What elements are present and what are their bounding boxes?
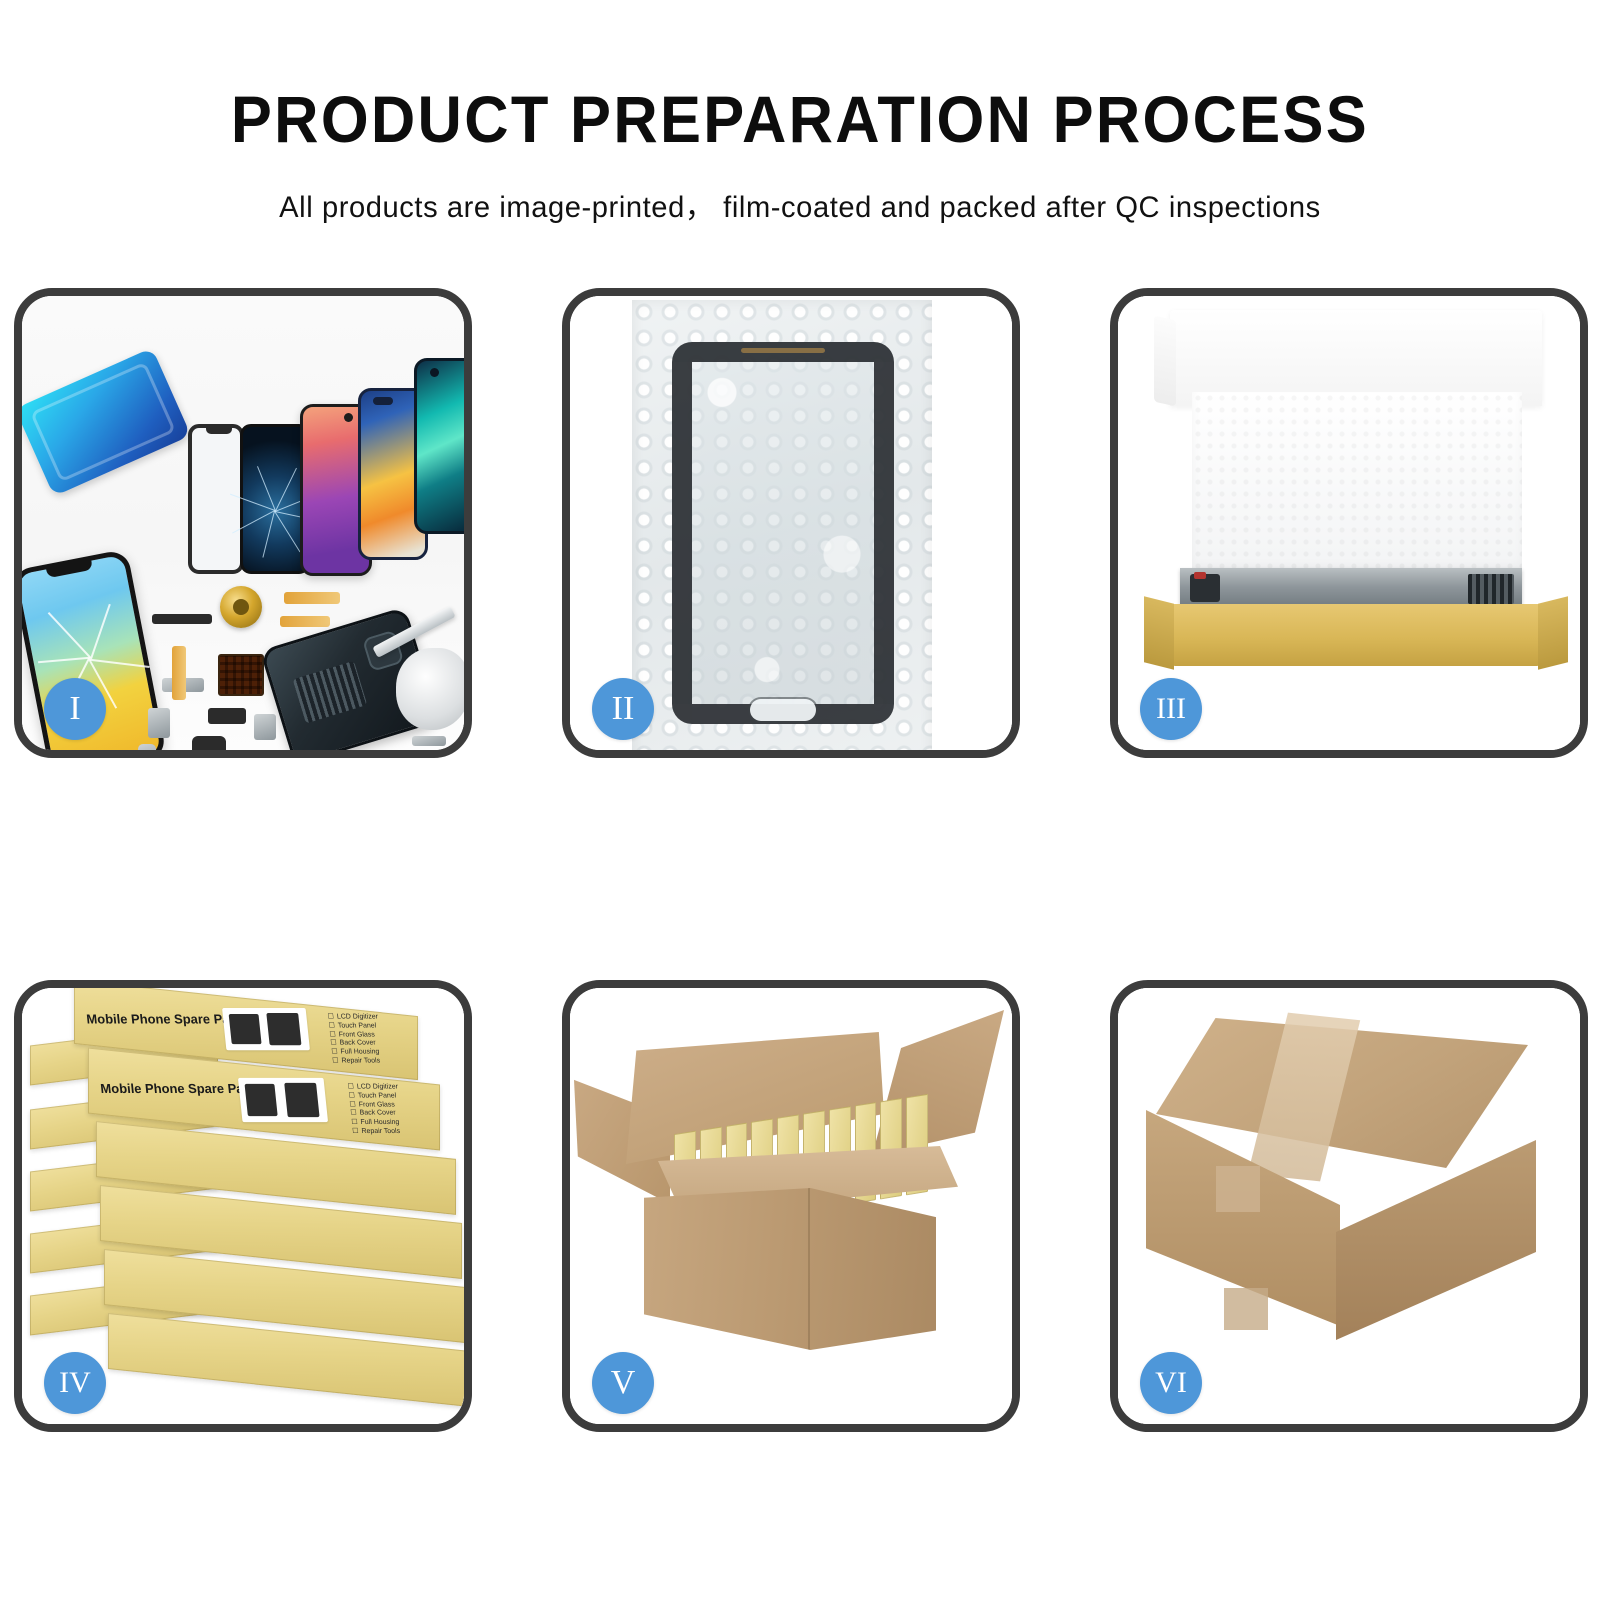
product-preparation-infographic: PRODUCT PREPARATION PROCESS All products… (0, 0, 1600, 1600)
retail-box-thumbnail-top (222, 1008, 310, 1050)
checklist-item: Full Housing (351, 1119, 402, 1128)
step-badge-5: V (592, 1352, 654, 1414)
small-component-2 (148, 708, 170, 738)
ic-chip-part (218, 654, 264, 696)
steps-grid: I II (0, 288, 1600, 1432)
checklist-item: Front Glass (349, 1101, 400, 1110)
checklist-item: Back Cover (350, 1110, 401, 1119)
step-numeral-4: IV (59, 1368, 91, 1398)
screws-part (412, 736, 446, 746)
crack-lines (275, 511, 276, 512)
page-title: PRODUCT PREPARATION PROCESS (56, 86, 1544, 152)
checklist-item: Repair Tools (352, 1128, 403, 1137)
connector-strip-part (152, 614, 212, 624)
retail-box-brand-label-second: Mobile Phone Spare Parts (100, 1081, 261, 1096)
checklist-item: Touch Panel (348, 1092, 399, 1101)
checklist-item: Full Housing (331, 1049, 382, 1058)
step-badge-4: IV (44, 1352, 106, 1414)
front-glass-part (188, 424, 244, 574)
step-numeral-5: V (611, 1366, 636, 1400)
step-numeral-2: II (612, 692, 635, 726)
step-badge-6: VI (1140, 1352, 1202, 1414)
steps-row-2: Mobile Phone Spare Parts LCD Digitizer T… (0, 980, 1600, 1432)
step-panel-1[interactable]: I (14, 288, 472, 758)
carton-body (644, 1188, 936, 1350)
step-panel-3[interactable]: III (1110, 288, 1588, 758)
flex-cable-part-1 (284, 592, 340, 604)
checklist-item: Touch Panel (328, 1022, 379, 1031)
step-badge-1: I (44, 678, 106, 740)
header: PRODUCT PREPARATION PROCESS All products… (0, 0, 1600, 226)
step-numeral-1: I (69, 692, 80, 726)
steps-row-1: I II (0, 288, 1600, 758)
retail-box-thumbnail-second (238, 1078, 328, 1122)
golden-mailer-box (1170, 604, 1542, 666)
wrapped-digitizer (672, 342, 894, 724)
packing-tape-side-upper (1216, 1166, 1260, 1212)
bubble-wrap-sheet (632, 300, 932, 750)
step-numeral-3: III (1156, 694, 1186, 724)
retail-box-checklist-top: LCD Digitizer Touch Panel Front Glass Ba… (327, 1013, 383, 1066)
foam-padding (1192, 392, 1522, 572)
sealed-carton-right-face (1336, 1140, 1536, 1340)
checklist-item: LCD Digitizer (327, 1013, 378, 1022)
speaker-coil-part (220, 586, 262, 628)
step-panel-6[interactable]: VI (1110, 980, 1588, 1432)
checklist-item: LCD Digitizer (347, 1084, 398, 1093)
page-subtitle: All products are image-printed， film-coa… (24, 182, 1576, 226)
step-badge-3: III (1140, 678, 1202, 740)
small-component-3 (208, 708, 246, 724)
checklist-item: Back Cover (330, 1040, 381, 1049)
step-numeral-6: VI (1155, 1368, 1187, 1398)
packing-tape-side-lower (1224, 1288, 1268, 1330)
checklist-item: Front Glass (329, 1031, 380, 1040)
checklist-item: Repair Tools (332, 1057, 383, 1066)
retail-box-checklist-second: LCD Digitizer Touch Panel Front Glass Ba… (347, 1084, 403, 1137)
small-component-5 (254, 714, 276, 740)
gloved-hand (396, 648, 464, 730)
phone-screen-teal (414, 358, 464, 534)
screen-connector (1468, 574, 1514, 604)
step-panel-5[interactable]: V (562, 980, 1020, 1432)
sim-tray-part (138, 744, 156, 750)
flex-cable-part-2 (280, 616, 330, 627)
step-panel-2[interactable]: II (562, 288, 1020, 758)
step-panel-4[interactable]: Mobile Phone Spare Parts LCD Digitizer T… (14, 980, 472, 1432)
step-badge-2: II (592, 678, 654, 740)
small-component-4 (192, 736, 226, 750)
flex-cable-part-4 (172, 646, 186, 700)
adhesive-frame-part (22, 348, 191, 497)
